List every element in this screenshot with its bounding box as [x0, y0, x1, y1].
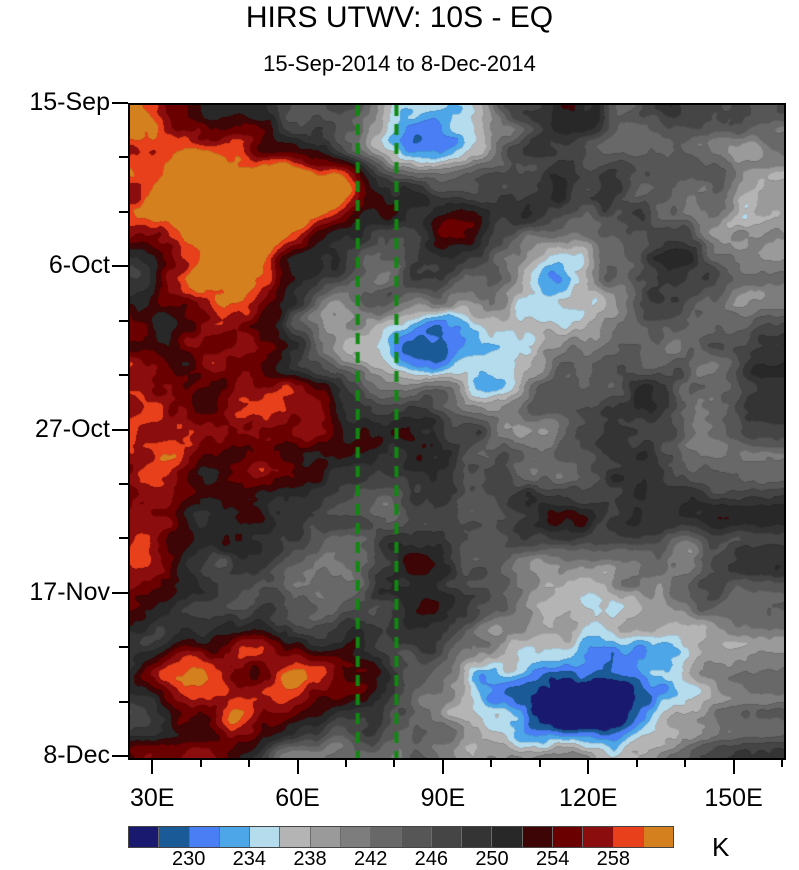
colorbar-swatch: [341, 827, 371, 847]
colorbar-swatch: [492, 827, 522, 847]
y-tick-major: [112, 265, 128, 267]
y-tick-major: [112, 102, 128, 104]
y-tick-minor: [119, 211, 128, 213]
colorbar-swatch: [190, 827, 220, 847]
y-axis-label: 17-Nov: [29, 580, 110, 605]
x-tick-major: [587, 758, 589, 774]
y-tick-minor: [119, 483, 128, 485]
colorbar-unit-label: K: [712, 834, 729, 860]
y-axis-label: 27-Oct: [35, 417, 110, 442]
colorbar-swatch: [523, 827, 553, 847]
x-tick-minor: [248, 758, 250, 767]
colorbar-swatch: [553, 827, 583, 847]
y-axis-labels: 15-Sep6-Oct27-Oct17-Nov8-Dec: [0, 0, 110, 869]
colorbar-swatch: [280, 827, 310, 847]
colorbar-swatch: [432, 827, 462, 847]
y-tick-minor: [119, 537, 128, 539]
colorbar-tick-label: 242: [354, 849, 387, 869]
y-tick-minor: [119, 156, 128, 158]
y-tick-minor: [119, 374, 128, 376]
colorbar-swatch: [371, 827, 401, 847]
hovmoller-field: [130, 105, 784, 758]
figure-subtitle: 15-Sep-2014 to 8-Dec-2014: [0, 50, 799, 78]
y-tick-major: [112, 592, 128, 594]
x-tick-minor: [200, 758, 202, 767]
colorbar-tick-label: 246: [415, 849, 448, 869]
x-tick-major: [733, 758, 735, 774]
x-axis-label: 150E: [704, 786, 762, 811]
colorbar-tick-label: 250: [475, 849, 508, 869]
x-tick-minor: [539, 758, 541, 767]
colorbar-swatch: [311, 827, 341, 847]
colorbar-swatch: [220, 827, 250, 847]
x-axis-label: 60E: [275, 786, 319, 811]
y-tick-minor: [119, 701, 128, 703]
colorbar-swatch: [462, 827, 492, 847]
x-axis-label: 90E: [421, 786, 465, 811]
y-tick-major: [112, 755, 128, 757]
hovmoller-figure: HIRS UTWV: 10S - EQ 15-Sep-2014 to 8-Dec…: [0, 0, 799, 869]
colorbar-tick-label: 238: [293, 849, 326, 869]
y-tick-minor: [119, 646, 128, 648]
colorbar-swatch: [583, 827, 613, 847]
colorbar-tick-label: 230: [172, 849, 205, 869]
colorbar[interactable]: [128, 826, 674, 848]
x-axis-label: 30E: [130, 786, 174, 811]
x-tick-minor: [393, 758, 395, 767]
x-tick-minor: [490, 758, 492, 767]
colorbar-swatch: [129, 827, 159, 847]
y-axis-label: 6-Oct: [49, 253, 110, 278]
colorbar-swatch: [644, 827, 673, 847]
x-tick-major: [297, 758, 299, 774]
colorbar-swatch: [159, 827, 189, 847]
x-axis-label: 120E: [559, 786, 617, 811]
x-tick-major: [442, 758, 444, 774]
y-axis-label: 15-Sep: [29, 90, 110, 115]
x-tick-minor: [781, 758, 783, 767]
x-tick-minor: [345, 758, 347, 767]
colorbar-tick-label: 234: [233, 849, 266, 869]
colorbar-swatch: [614, 827, 644, 847]
colorbar-swatch: [250, 827, 280, 847]
plot-area[interactable]: [128, 103, 786, 760]
x-tick-minor: [636, 758, 638, 767]
y-axis-label: 8-Dec: [43, 743, 110, 768]
colorbar-tick-label: 254: [536, 849, 569, 869]
x-tick-minor: [684, 758, 686, 767]
y-tick-minor: [119, 320, 128, 322]
x-tick-major: [151, 758, 153, 774]
figure-title: HIRS UTWV: 10S - EQ: [0, 0, 799, 37]
colorbar-swatch: [402, 827, 432, 847]
colorbar-tick-label: 258: [597, 849, 630, 869]
y-tick-major: [112, 429, 128, 431]
